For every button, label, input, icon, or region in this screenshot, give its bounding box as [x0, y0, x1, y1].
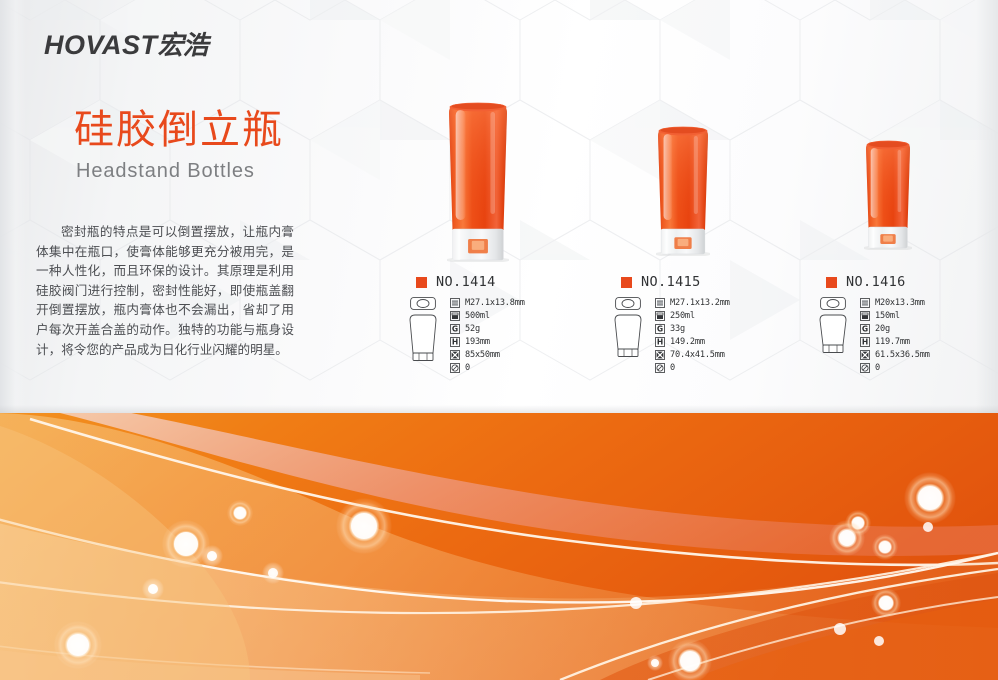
spec-value: 33g — [670, 324, 685, 334]
product-code-label: NO.1415 — [621, 274, 701, 290]
brand-logo: HOVAST宏浩 — [44, 32, 208, 59]
spec-value: 149.2mm — [670, 337, 705, 347]
spec-value: 0 — [670, 363, 675, 373]
no-value-icon — [860, 363, 870, 373]
product-bottle-photo — [864, 140, 912, 250]
spec-row: 0 — [450, 362, 525, 374]
catalog-page: HOVAST宏浩 硅胶倒立瓶 Headstand Bottles 密封瓶的特点是… — [0, 0, 998, 680]
top-content-panel: HOVAST宏浩 硅胶倒立瓶 Headstand Bottles 密封瓶的特点是… — [0, 0, 998, 413]
product-code-label: NO.1416 — [826, 274, 906, 290]
svg-text:G: G — [862, 325, 868, 334]
spec-row: M27.1x13.8mm — [450, 297, 525, 309]
spec-value: 70.4x41.5mm — [670, 350, 725, 360]
product-card: NO.1415 M27.1x13.2mm250mlG33gH149.2mm70.… — [583, 0, 783, 413]
spec-row: G33g — [655, 323, 730, 335]
spec-row: H149.2mm — [655, 336, 730, 348]
spec-value: M20x13.3mm — [875, 298, 925, 308]
spec-row: 500ml — [450, 310, 525, 322]
dimensions-icon — [860, 350, 870, 360]
spec-row: 85x50mm — [450, 349, 525, 361]
svg-text:H: H — [862, 338, 868, 347]
spec-value: M27.1x13.8mm — [465, 298, 525, 308]
spec-row: 150ml — [860, 310, 930, 322]
spec-value: 150ml — [875, 311, 900, 321]
cap-top-view-outline — [410, 297, 436, 310]
spec-value: 119.7mm — [875, 337, 910, 347]
brand-name-en: HOVAST — [44, 30, 158, 60]
weight-g-icon: G — [450, 324, 460, 334]
color-swatch-icon — [621, 277, 632, 288]
spec-row: 250ml — [655, 310, 730, 322]
product-code-text: NO.1415 — [641, 274, 701, 290]
spec-row: G20g — [860, 323, 930, 335]
product-spec-area: M20x13.3mm150mlG20gH119.7mm61.5x36.5mm0 — [814, 296, 930, 374]
product-spec-area: M27.1x13.8mm500mlG52gH193mm85x50mm0 — [404, 296, 525, 374]
product-spec-list: M27.1x13.2mm250mlG33gH149.2mm70.4x41.5mm… — [655, 296, 730, 374]
description-paragraph: 密封瓶的特点是可以倒置摆放，让瓶内膏体集中在瓶口，使膏体能够更充分被用完，是一种… — [36, 222, 294, 359]
neck-thread-icon — [860, 298, 870, 308]
capacity-icon — [450, 311, 460, 321]
capacity-icon — [860, 311, 870, 321]
spec-row: 70.4x41.5mm — [655, 349, 730, 361]
decorative-wave-banner — [0, 413, 998, 680]
product-outline-column — [404, 296, 442, 362]
bottle-outline-drawing — [614, 314, 642, 358]
neck-thread-icon — [655, 298, 665, 308]
neck-thread-icon — [450, 298, 460, 308]
svg-text:G: G — [452, 325, 458, 334]
product-bottle-photo — [447, 102, 509, 262]
spec-value: 52g — [465, 324, 480, 334]
bottle-outline-drawing — [409, 314, 437, 362]
svg-text:H: H — [657, 338, 663, 347]
page-title-cn: 硅胶倒立瓶 — [74, 109, 284, 151]
color-swatch-icon — [826, 277, 837, 288]
spec-value: 61.5x36.5mm — [875, 350, 930, 360]
spec-value: 85x50mm — [465, 350, 500, 360]
bottle-outline-drawing — [819, 314, 847, 354]
height-h-icon: H — [860, 337, 870, 347]
product-outline-column — [814, 296, 852, 354]
dimensions-icon — [450, 350, 460, 360]
height-h-icon: H — [450, 337, 460, 347]
svg-text:G: G — [657, 325, 663, 334]
spec-value: 193mm — [465, 337, 490, 347]
no-value-icon — [655, 363, 665, 373]
color-swatch-icon — [416, 277, 427, 288]
dimensions-icon — [655, 350, 665, 360]
spec-row: G52g — [450, 323, 525, 335]
weight-g-icon: G — [655, 324, 665, 334]
spec-row: H119.7mm — [860, 336, 930, 348]
cap-top-view-outline — [820, 297, 846, 310]
capacity-icon — [655, 311, 665, 321]
brand-name-cn: 宏浩 — [158, 31, 208, 61]
product-spec-list: M27.1x13.8mm500mlG52gH193mm85x50mm0 — [450, 296, 525, 374]
svg-text:H: H — [452, 338, 458, 347]
no-value-icon — [450, 363, 460, 373]
spec-row: 0 — [655, 362, 730, 374]
spec-value: 250ml — [670, 311, 695, 321]
product-outline-column — [609, 296, 647, 358]
spec-value: 20g — [875, 324, 890, 334]
product-bottle-photo — [656, 126, 710, 256]
spec-value: 0 — [465, 363, 470, 373]
spec-row: 0 — [860, 362, 930, 374]
product-spec-list: M20x13.3mm150mlG20gH119.7mm61.5x36.5mm0 — [860, 296, 930, 374]
product-code-text: NO.1416 — [846, 274, 906, 290]
spec-row: M27.1x13.2mm — [655, 297, 730, 309]
product-card: NO.1416 M20x13.3mm150mlG20gH119.7mm61.5x… — [788, 0, 988, 413]
wave-graphics — [0, 413, 998, 680]
product-spec-area: M27.1x13.2mm250mlG33gH149.2mm70.4x41.5mm… — [609, 296, 730, 374]
spec-value: 0 — [875, 363, 880, 373]
product-card: NO.1414 M27.1x13.8mm500mlG52gH193mm85x50… — [378, 0, 578, 413]
cap-top-view-outline — [615, 297, 641, 310]
spec-row: H193mm — [450, 336, 525, 348]
spec-value: 500ml — [465, 311, 490, 321]
product-code-label: NO.1414 — [416, 274, 496, 290]
page-title-en: Headstand Bottles — [76, 160, 255, 183]
height-h-icon: H — [655, 337, 665, 347]
weight-g-icon: G — [860, 324, 870, 334]
spec-row: M20x13.3mm — [860, 297, 930, 309]
left-panel-edge — [0, 0, 26, 413]
spec-value: M27.1x13.2mm — [670, 298, 730, 308]
product-code-text: NO.1414 — [436, 274, 496, 290]
spec-row: 61.5x36.5mm — [860, 349, 930, 361]
